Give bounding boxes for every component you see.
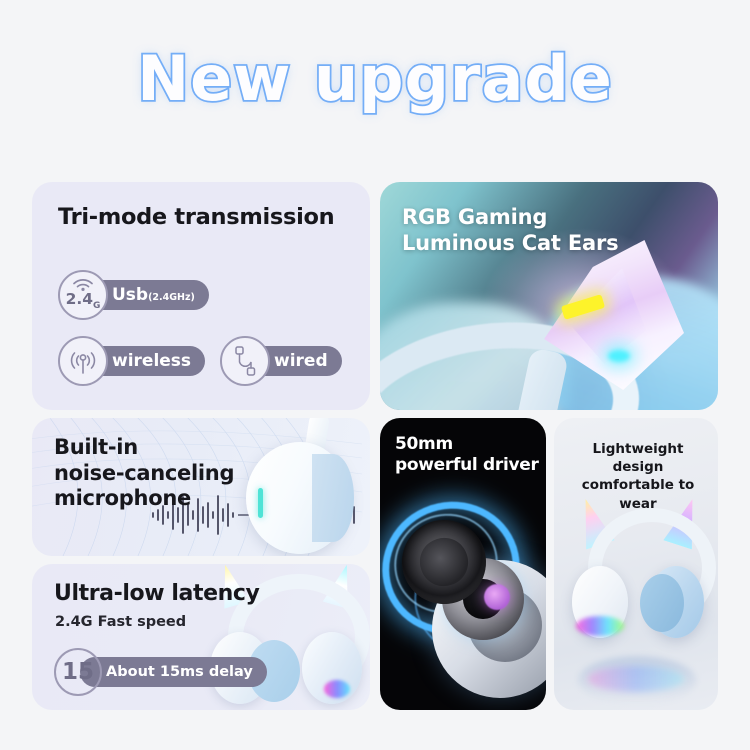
latency-badge-number: 15: [54, 648, 102, 696]
driver-purple-accent: [484, 584, 510, 610]
badge-wireless: wireless: [58, 340, 205, 382]
badge-wired-pill-label: wired: [274, 346, 328, 376]
latency-badge-pill: About 15ms delay: [80, 657, 267, 687]
rgb-gaming-title: RGB Gaming Luminous Cat Ears: [402, 204, 618, 257]
antenna-glyph-icon: [66, 346, 100, 376]
driver-title-line-2: powerful driver: [395, 455, 539, 476]
badge-usb-pill-sublabel: (2.4GHz): [148, 283, 195, 313]
card-rgb-gaming-cat-ears: RGB Gaming Luminous Cat Ears: [380, 182, 718, 410]
badge-usb: 2.4G Usb (2.4GHz): [58, 274, 209, 316]
headphones-illustration-lightweight: [570, 504, 704, 654]
latency-title: Ultra-low latency: [54, 581, 259, 606]
badge-wireless-group: wireless: [58, 340, 205, 382]
lightweight-title-line-1: Lightweight design: [567, 440, 709, 476]
tri-mode-title: Tri-mode transmission: [58, 204, 334, 230]
earcup-cushion: [640, 574, 684, 632]
lightweight-title: Lightweight design comfortable to wear: [567, 440, 709, 513]
cable-icon: [220, 336, 270, 386]
mic-title-line-1: Built-in: [54, 435, 234, 461]
headphone-earcup-illustration: [240, 442, 352, 554]
badge-usb-pill-label: Usb: [112, 280, 148, 310]
latency-subtitle: 2.4G Fast speed: [55, 614, 186, 630]
driver-title-line-1: 50mm: [395, 434, 539, 455]
driver-title: 50mm powerful driver: [395, 434, 539, 477]
cable-glyph-icon: [232, 345, 258, 377]
wifi-24g-icon: 2.4G: [58, 270, 108, 320]
antenna-icon: [58, 336, 108, 386]
card-50mm-powerful-driver: 50mm powerful driver: [380, 418, 546, 710]
badge-usb-circle-label: 2.4G: [66, 292, 101, 311]
card-noise-canceling-microphone: Built-in noise-canceling microphone: [32, 418, 370, 556]
badge-wired-group: wired: [220, 340, 342, 382]
microphone-title: Built-in noise-canceling microphone: [54, 435, 234, 512]
badge-usb-group: 2.4G Usb (2.4GHz): [58, 274, 209, 316]
rgb-title-line-2: Luminous Cat Ears: [402, 230, 618, 256]
page-title: New upgrade: [0, 48, 750, 110]
earcup-led-indicator: [258, 488, 263, 518]
lightweight-title-line-2: comfortable to wear: [567, 476, 709, 512]
card-ultra-low-latency: Ultra-low latency 2.4G Fast speed 15 Abo…: [32, 564, 370, 710]
latency-badge: 15 About 15ms delay: [54, 648, 267, 696]
rgb-led-ring: [324, 680, 350, 698]
mic-title-line-3: microphone: [54, 486, 234, 512]
earcup-cushion: [312, 454, 354, 542]
mic-title-line-2: noise-canceling: [54, 461, 234, 487]
latency-badge-pill-label: About 15ms delay: [106, 657, 253, 687]
rgb-led-ring: [576, 616, 624, 636]
card-lightweight-design: Lightweight design comfortable to wear: [554, 418, 718, 710]
surface-reflection-rgb: [588, 666, 684, 692]
cat-ear-cyan-led: [608, 350, 630, 362]
card-tri-mode-transmission: Tri-mode transmission 2.4G Usb (2.4GHz): [32, 182, 370, 410]
rgb-title-line-1: RGB Gaming: [402, 204, 618, 230]
badge-wireless-pill-label: wireless: [112, 346, 191, 376]
badge-wired: wired: [220, 340, 342, 382]
